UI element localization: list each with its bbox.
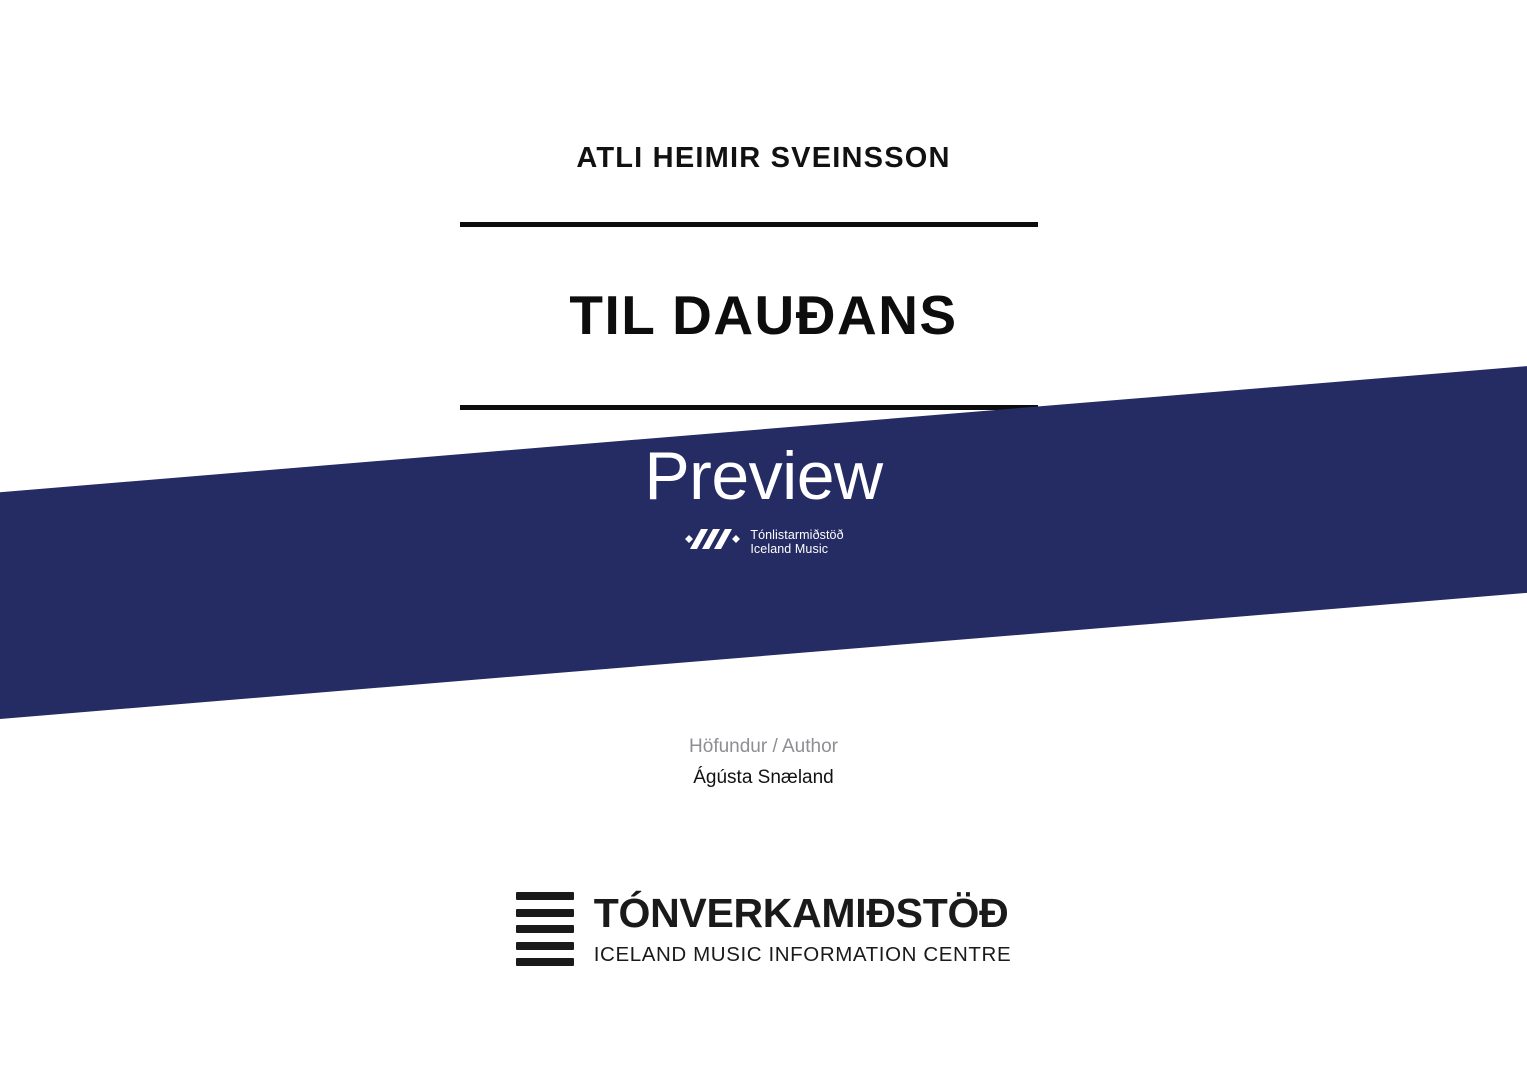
publisher-name: TÓNVERKAMIÐSTÖÐ xyxy=(594,893,1011,934)
preview-banner-stripe xyxy=(0,361,1527,723)
author-block: Höfundur / Author Ágústa Snæland xyxy=(0,733,1527,791)
author-label: Höfundur / Author xyxy=(0,733,1527,761)
composer-name: ATLI HEIMIR SVEINSSON xyxy=(0,144,1527,173)
title-rule-top xyxy=(460,222,1038,227)
music-staff-lines-icon xyxy=(516,892,574,966)
publisher-tagline: ICELAND MUSIC INFORMATION CENTRE xyxy=(594,945,1011,966)
publisher-logo: TÓNVERKAMIÐSTÖÐ ICELAND MUSIC INFORMATIO… xyxy=(0,892,1527,966)
publisher-logo-text: TÓNVERKAMIÐSTÖÐ ICELAND MUSIC INFORMATIO… xyxy=(594,893,1011,966)
title-rule-bottom xyxy=(460,405,1038,410)
author-name: Ágústa Snæland xyxy=(0,764,1527,792)
page-title: TIL DAUÐANS xyxy=(0,288,1527,343)
title-page: ATLI HEIMIR SVEINSSON TIL DAUÐANS Previe… xyxy=(0,0,1527,1080)
